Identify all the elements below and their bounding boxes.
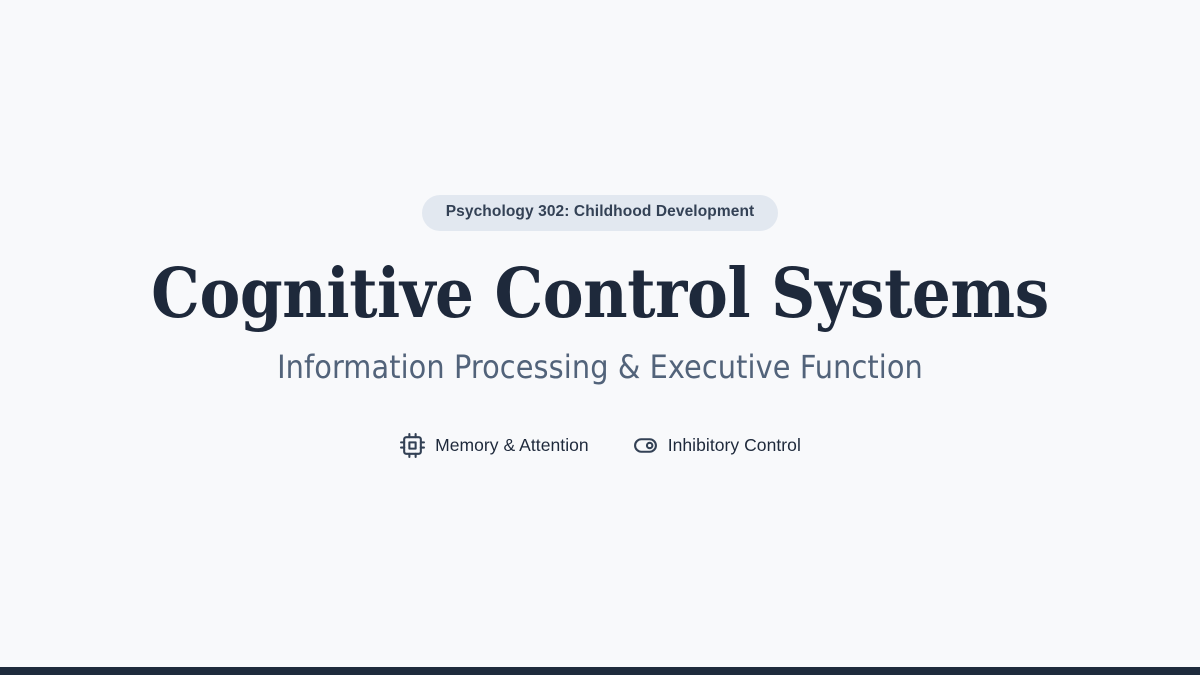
badge-container: Psychology 302: Childhood Development — [0, 195, 1200, 231]
feature-item-memory-attention: Memory & Attention — [399, 432, 589, 459]
slide-subtitle: Information Processing & Executive Funct… — [277, 348, 923, 386]
feature-item-inhibitory-control: Inhibitory Control — [632, 432, 801, 459]
title-slide: Psychology 302: Childhood Development Co… — [0, 0, 1200, 675]
course-badge: Psychology 302: Childhood Development — [422, 195, 779, 231]
slide-title: Cognitive Control Systems — [151, 258, 1049, 330]
feature-label-inhibitory-control: Inhibitory Control — [668, 435, 801, 456]
bottom-accent-bar — [0, 667, 1200, 675]
feature-list: Memory & Attention Inhibitory Control — [399, 432, 801, 459]
cpu-icon — [399, 432, 426, 459]
toggle-switch-icon — [632, 432, 659, 459]
feature-label-memory-attention: Memory & Attention — [435, 435, 589, 456]
